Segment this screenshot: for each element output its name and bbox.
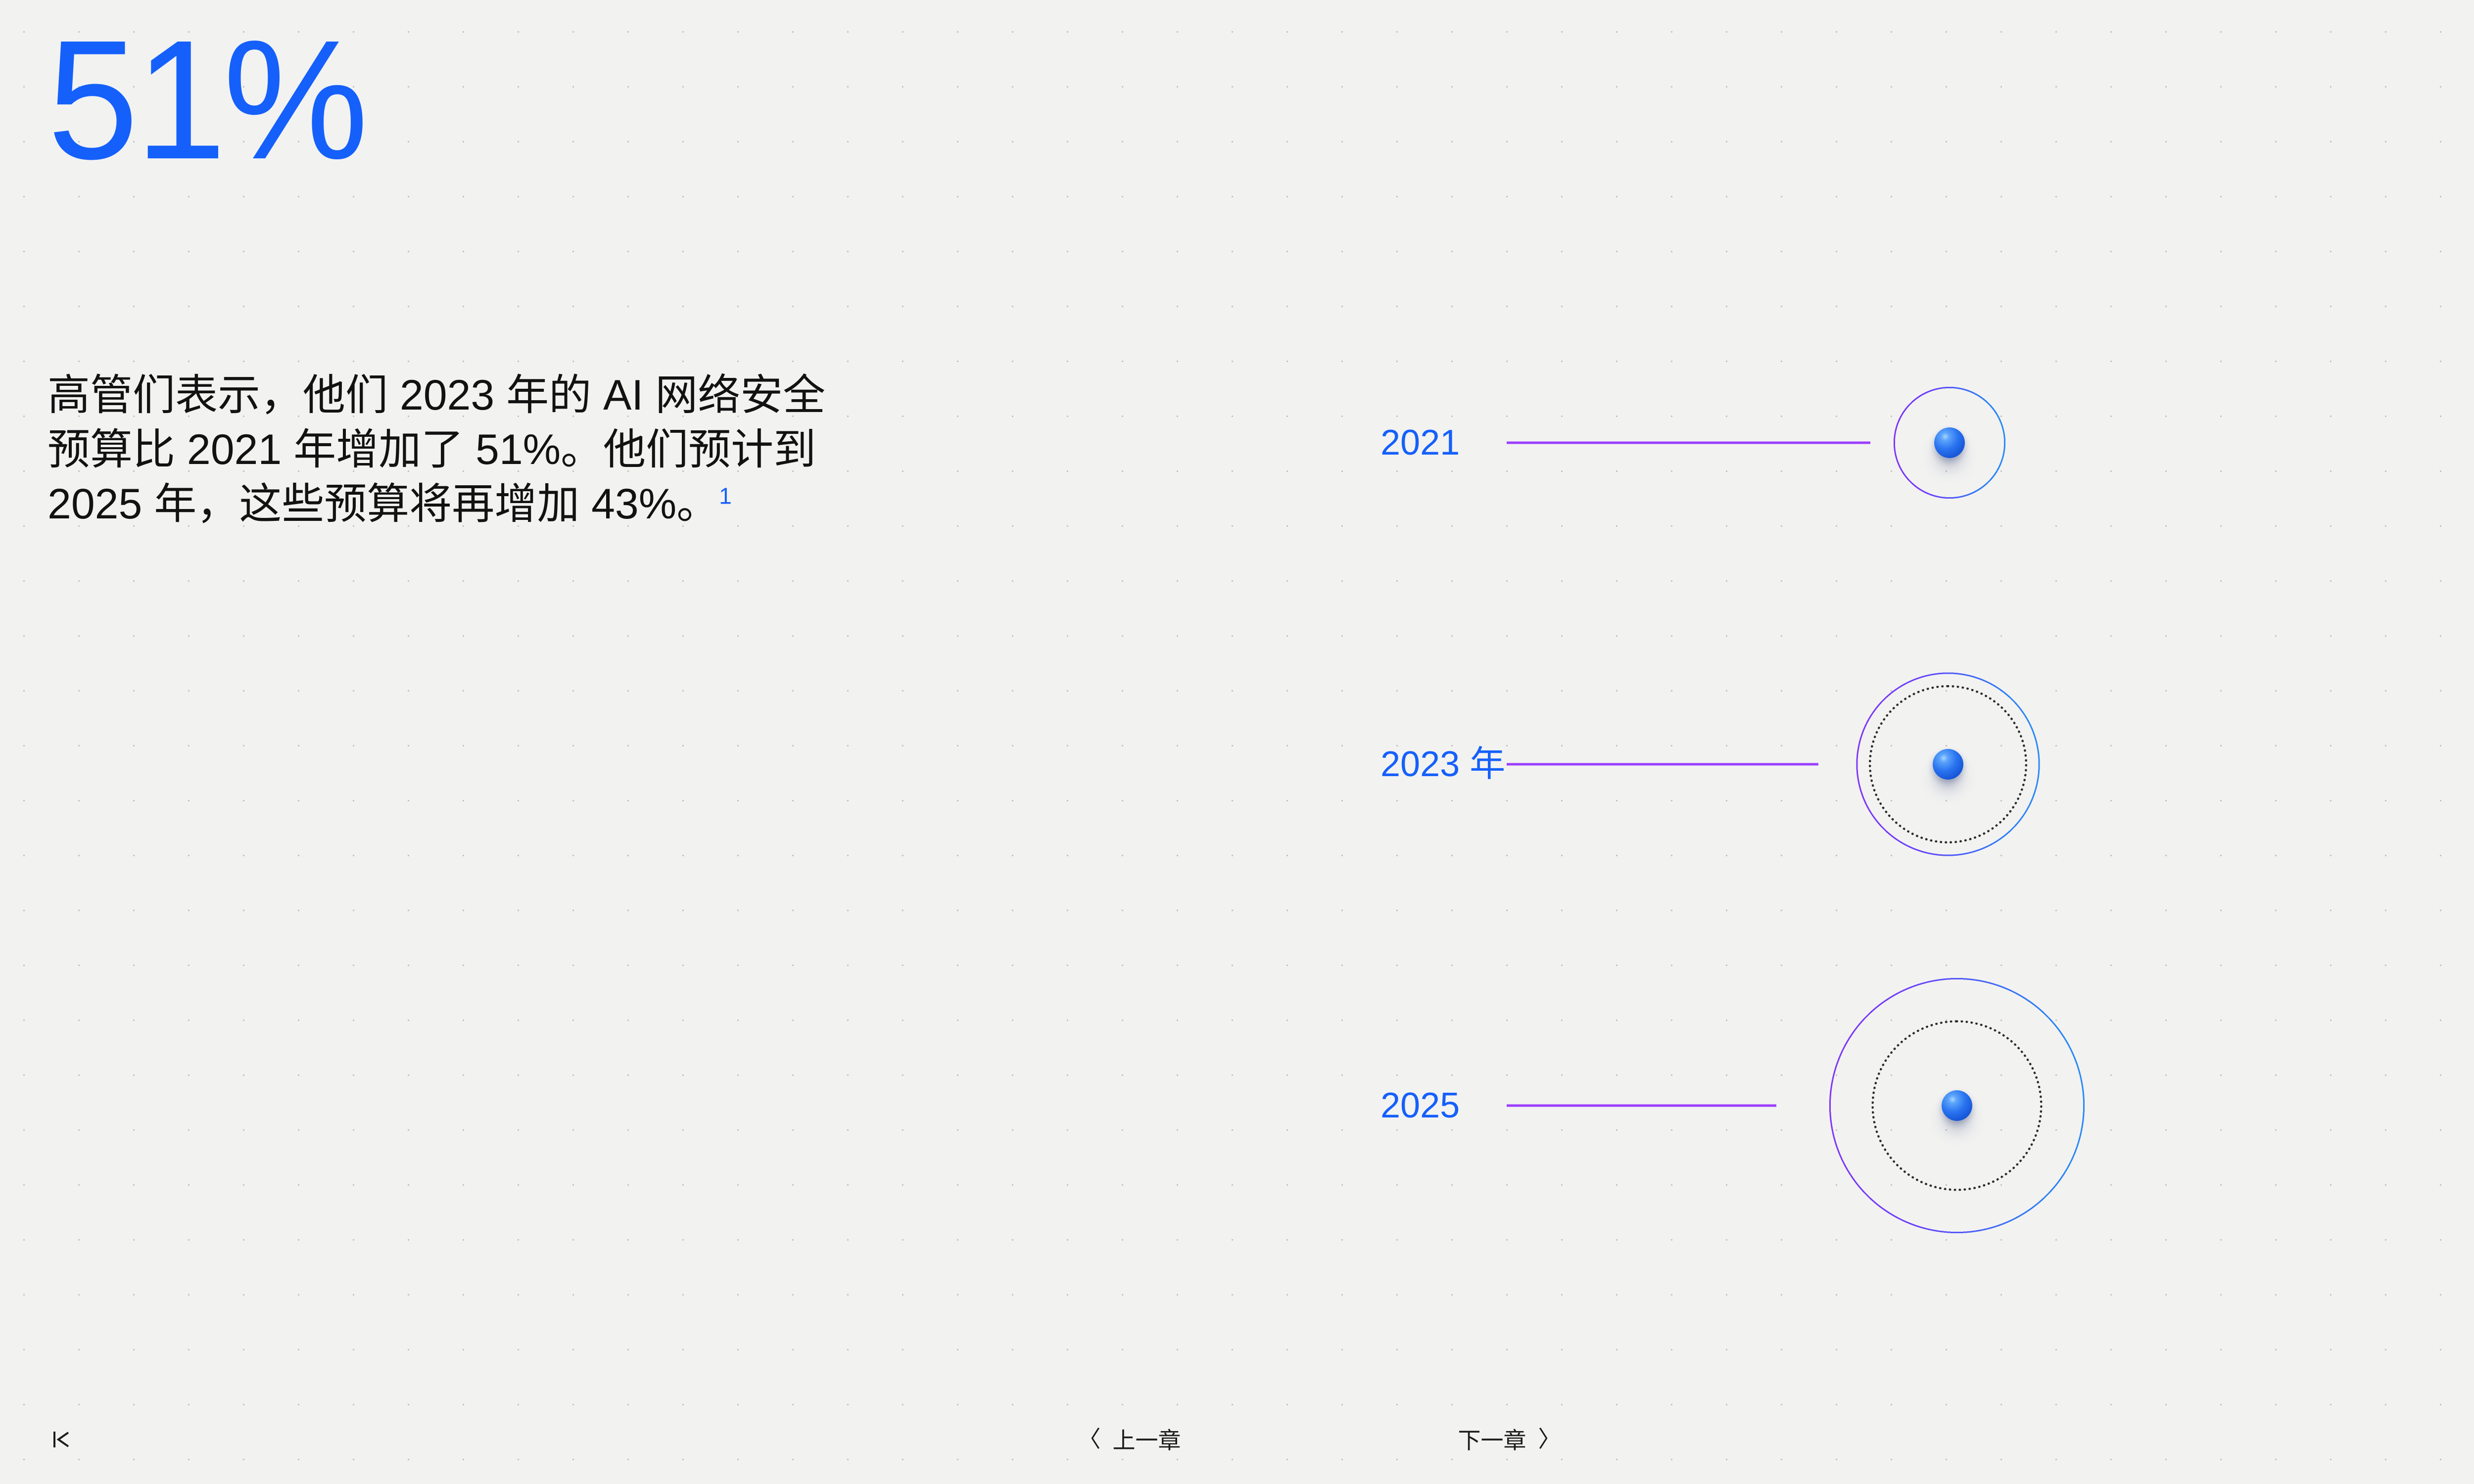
center-sphere-2023 <box>1933 749 1963 780</box>
body-text: 高管们表示，他们 2023 年的 AI 网络安全预算比 2021 年增加了 51… <box>48 371 825 528</box>
next-chapter-button[interactable]: 下一章 〉 <box>1458 1423 1561 1455</box>
connector-line-2023 <box>1507 763 1818 766</box>
node-label-2023: 2023 年 <box>1380 746 1505 782</box>
center-sphere-2021 <box>1934 427 1965 458</box>
big-statistic: 51% <box>48 15 889 185</box>
chevron-right-icon: 〉 <box>1538 1428 1561 1450</box>
next-chapter-label: 下一章 <box>1458 1423 1526 1455</box>
left-content-column: 51% 高管们表示，他们 2023 年的 AI 网络安全预算比 2021 年增加… <box>48 15 889 178</box>
skip-to-start-button[interactable] <box>51 1428 73 1451</box>
node-label-2025: 2025 <box>1380 1088 1460 1123</box>
center-sphere-2025 <box>1942 1090 1972 1121</box>
chevron-left-icon: 〈 <box>1078 1428 1101 1450</box>
bubble-growth-diagram: 2021 2023 年 2025 <box>1286 297 2276 1336</box>
body-paragraph: 高管们表示，他们 2023 年的 AI 网络安全预算比 2021 年增加了 51… <box>48 368 854 531</box>
node-label-2021: 2021 <box>1380 425 1460 461</box>
skip-to-start-icon <box>51 1428 73 1451</box>
connector-line-2021 <box>1507 442 1870 444</box>
previous-chapter-label: 上一章 <box>1113 1423 1181 1455</box>
chapter-navigation: 〈 上一章 下一章 〉 <box>0 1423 2474 1455</box>
slide-page: 51% 高管们表示，他们 2023 年的 AI 网络安全预算比 2021 年增加… <box>0 0 2474 1484</box>
previous-chapter-button[interactable]: 〈 上一章 <box>1078 1423 1181 1455</box>
footnote-marker[interactable]: 1 <box>719 483 732 509</box>
slide-footer: 〈 上一章 下一章 〉 8 <box>0 1405 2474 1484</box>
connector-line-2025 <box>1507 1105 1776 1107</box>
